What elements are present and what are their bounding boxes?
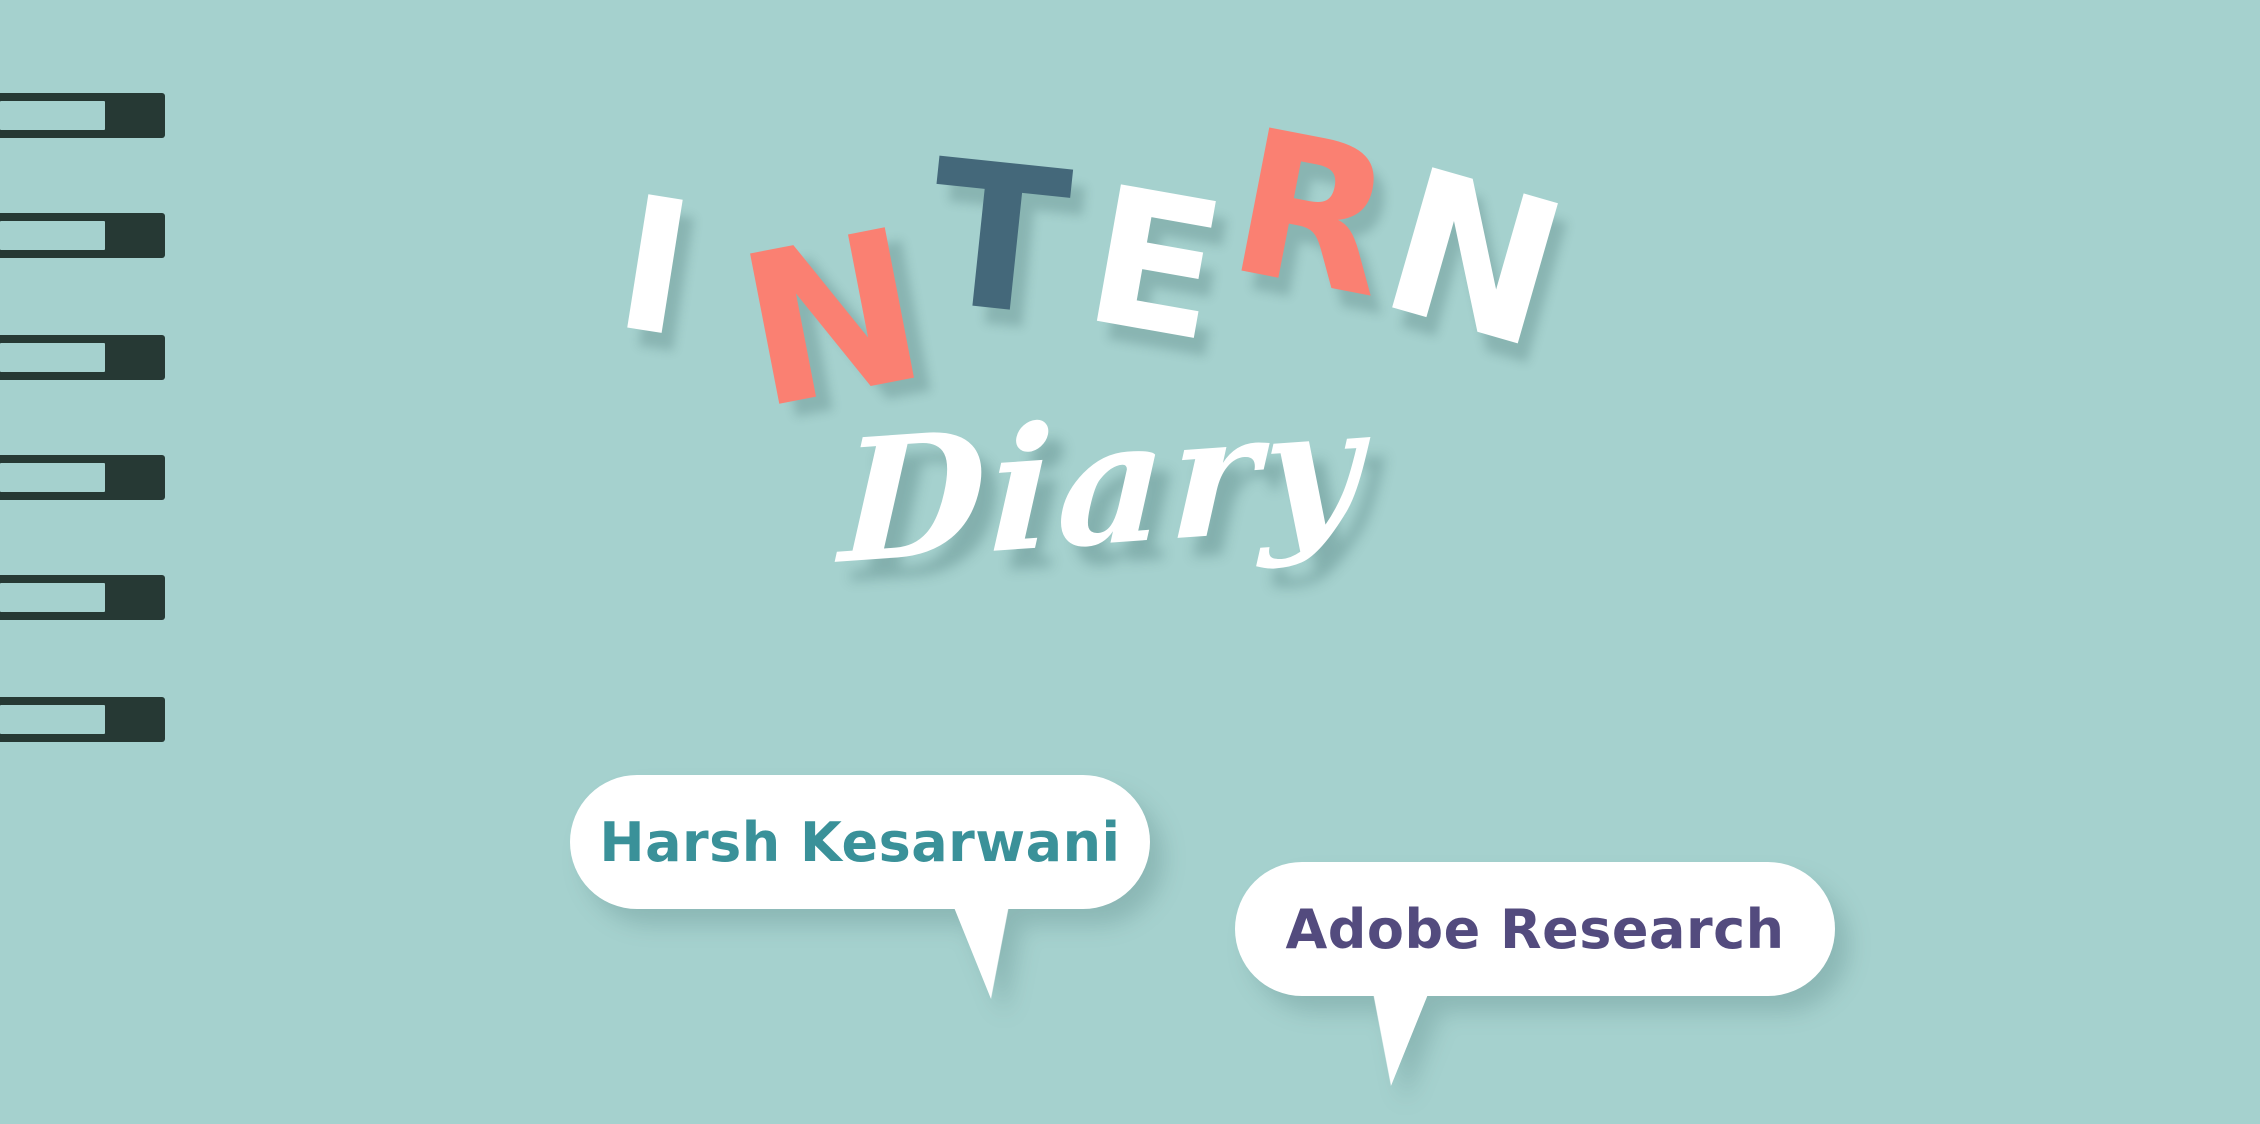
person-name-label: Harsh Kesarwani (599, 811, 1120, 874)
speech-bubble-org: Adobe Research (1235, 862, 1835, 996)
spiral-binding-ring-icon (0, 455, 165, 500)
notebook-binding (0, 0, 165, 1124)
subtitle-text: Diary (838, 381, 1367, 586)
spiral-binding-ring-icon (0, 93, 165, 138)
org-name-label: Adobe Research (1285, 898, 1784, 961)
spiral-binding-ring-icon (0, 575, 165, 620)
spiral-binding-ring-icon (0, 213, 165, 258)
subtitle: Diary (840, 400, 1365, 568)
spiral-binding-ring-icon (0, 335, 165, 380)
speech-bubble-tail-icon (1329, 982, 1433, 1086)
title-slide: I N T E R N Diary Harsh Kesarwani Adobe … (0, 0, 2260, 1124)
speech-bubble-person: Harsh Kesarwani (570, 775, 1150, 909)
title-letter-3: T (920, 133, 1077, 346)
title-letter-6: N (1366, 141, 1582, 379)
title-letter-4: E (1074, 160, 1235, 370)
spiral-binding-ring-icon (0, 697, 165, 742)
title-letter-1: I (606, 171, 703, 364)
speech-bubble-tail-icon (949, 895, 1053, 999)
